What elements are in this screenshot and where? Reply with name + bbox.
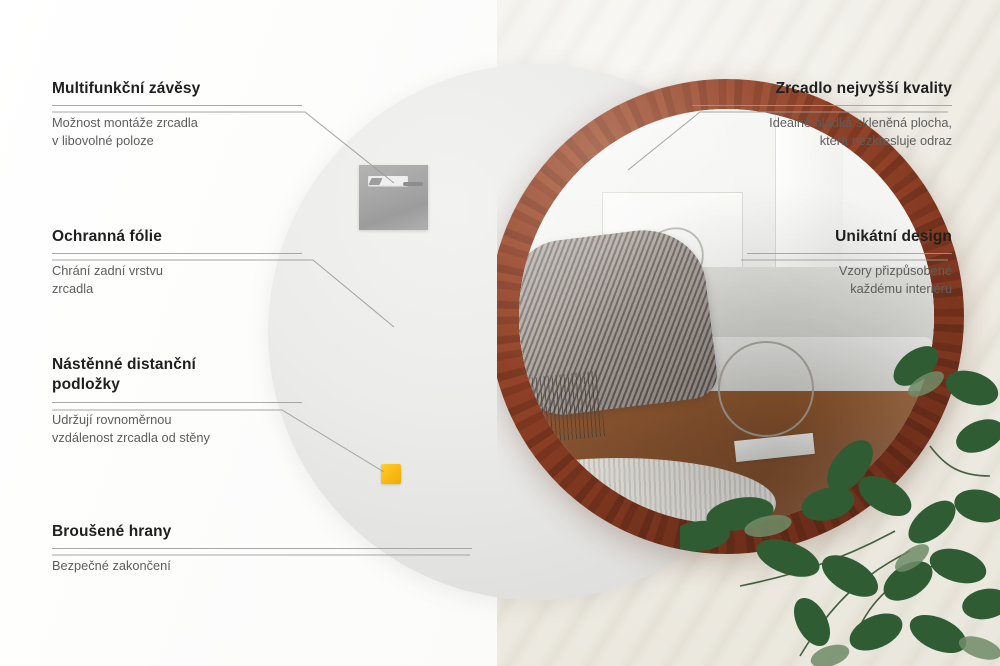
infographic-canvas: Multifunkční závěsy Možnost montáže zrca… xyxy=(0,0,1000,666)
reflected-throw-fringe xyxy=(519,370,605,446)
callout-description: Bezpečné zakončení xyxy=(52,557,472,575)
callout-title: Zrcadlo nejvyšší kvality xyxy=(692,80,952,98)
spacer-pad xyxy=(381,464,401,484)
callout-rule xyxy=(52,402,302,403)
callout-multifunkcni-zavesy: Multifunkční závěsy Možnost montáže zrca… xyxy=(52,80,302,149)
callout-ochranna-folie: Ochranná fólie Chrání zadní vrstvu zrcad… xyxy=(52,228,302,297)
callout-description: Chrání zadní vrstvu zrcadla xyxy=(52,262,302,297)
callout-unikatni-design: Unikátní design Vzory přizpůsobené každé… xyxy=(747,228,952,297)
callout-description: Udržují rovnoměrnou vzdálenost zrcadla o… xyxy=(52,411,302,446)
callout-rule xyxy=(52,253,302,254)
hanger-bar-icon xyxy=(403,182,423,186)
callout-zrcadlo-nejvyssi-kvality: Zrcadlo nejvyšší kvality Ideálně hladká … xyxy=(692,80,952,149)
hanger-slot-icon xyxy=(368,176,408,187)
callout-description: Ideálně hladká skleněná plocha, která ne… xyxy=(692,114,952,149)
hanger-plate xyxy=(359,165,428,230)
callout-nastenne-distancni-podlozky: Nástěnné distanční podložky Udržují rovn… xyxy=(52,355,302,446)
callout-rule xyxy=(52,105,302,106)
callout-description: Vzory přizpůsobené každému interiéru xyxy=(747,262,952,297)
reflected-sofa-arm xyxy=(519,275,594,383)
callout-title: Multifunkční závěsy xyxy=(52,80,302,98)
callout-title: Broušené hrany xyxy=(52,523,472,541)
line-art-portrait-icon xyxy=(614,204,731,321)
callout-title: Nástěnné distanční podložky xyxy=(52,355,302,395)
callout-rule xyxy=(692,105,952,106)
callout-description: Možnost montáže zrcadla v libovolné polo… xyxy=(52,114,302,149)
callout-title: Ochranná fólie xyxy=(52,228,302,246)
callout-rule xyxy=(747,253,952,254)
callout-title: Unikátní design xyxy=(747,228,952,246)
reflected-art-frame xyxy=(602,192,743,333)
callout-rule xyxy=(52,548,472,549)
foliage-plant xyxy=(680,326,1000,666)
callout-brousene-hrany: Broušené hrany Bezpečné zakončení xyxy=(52,523,472,575)
